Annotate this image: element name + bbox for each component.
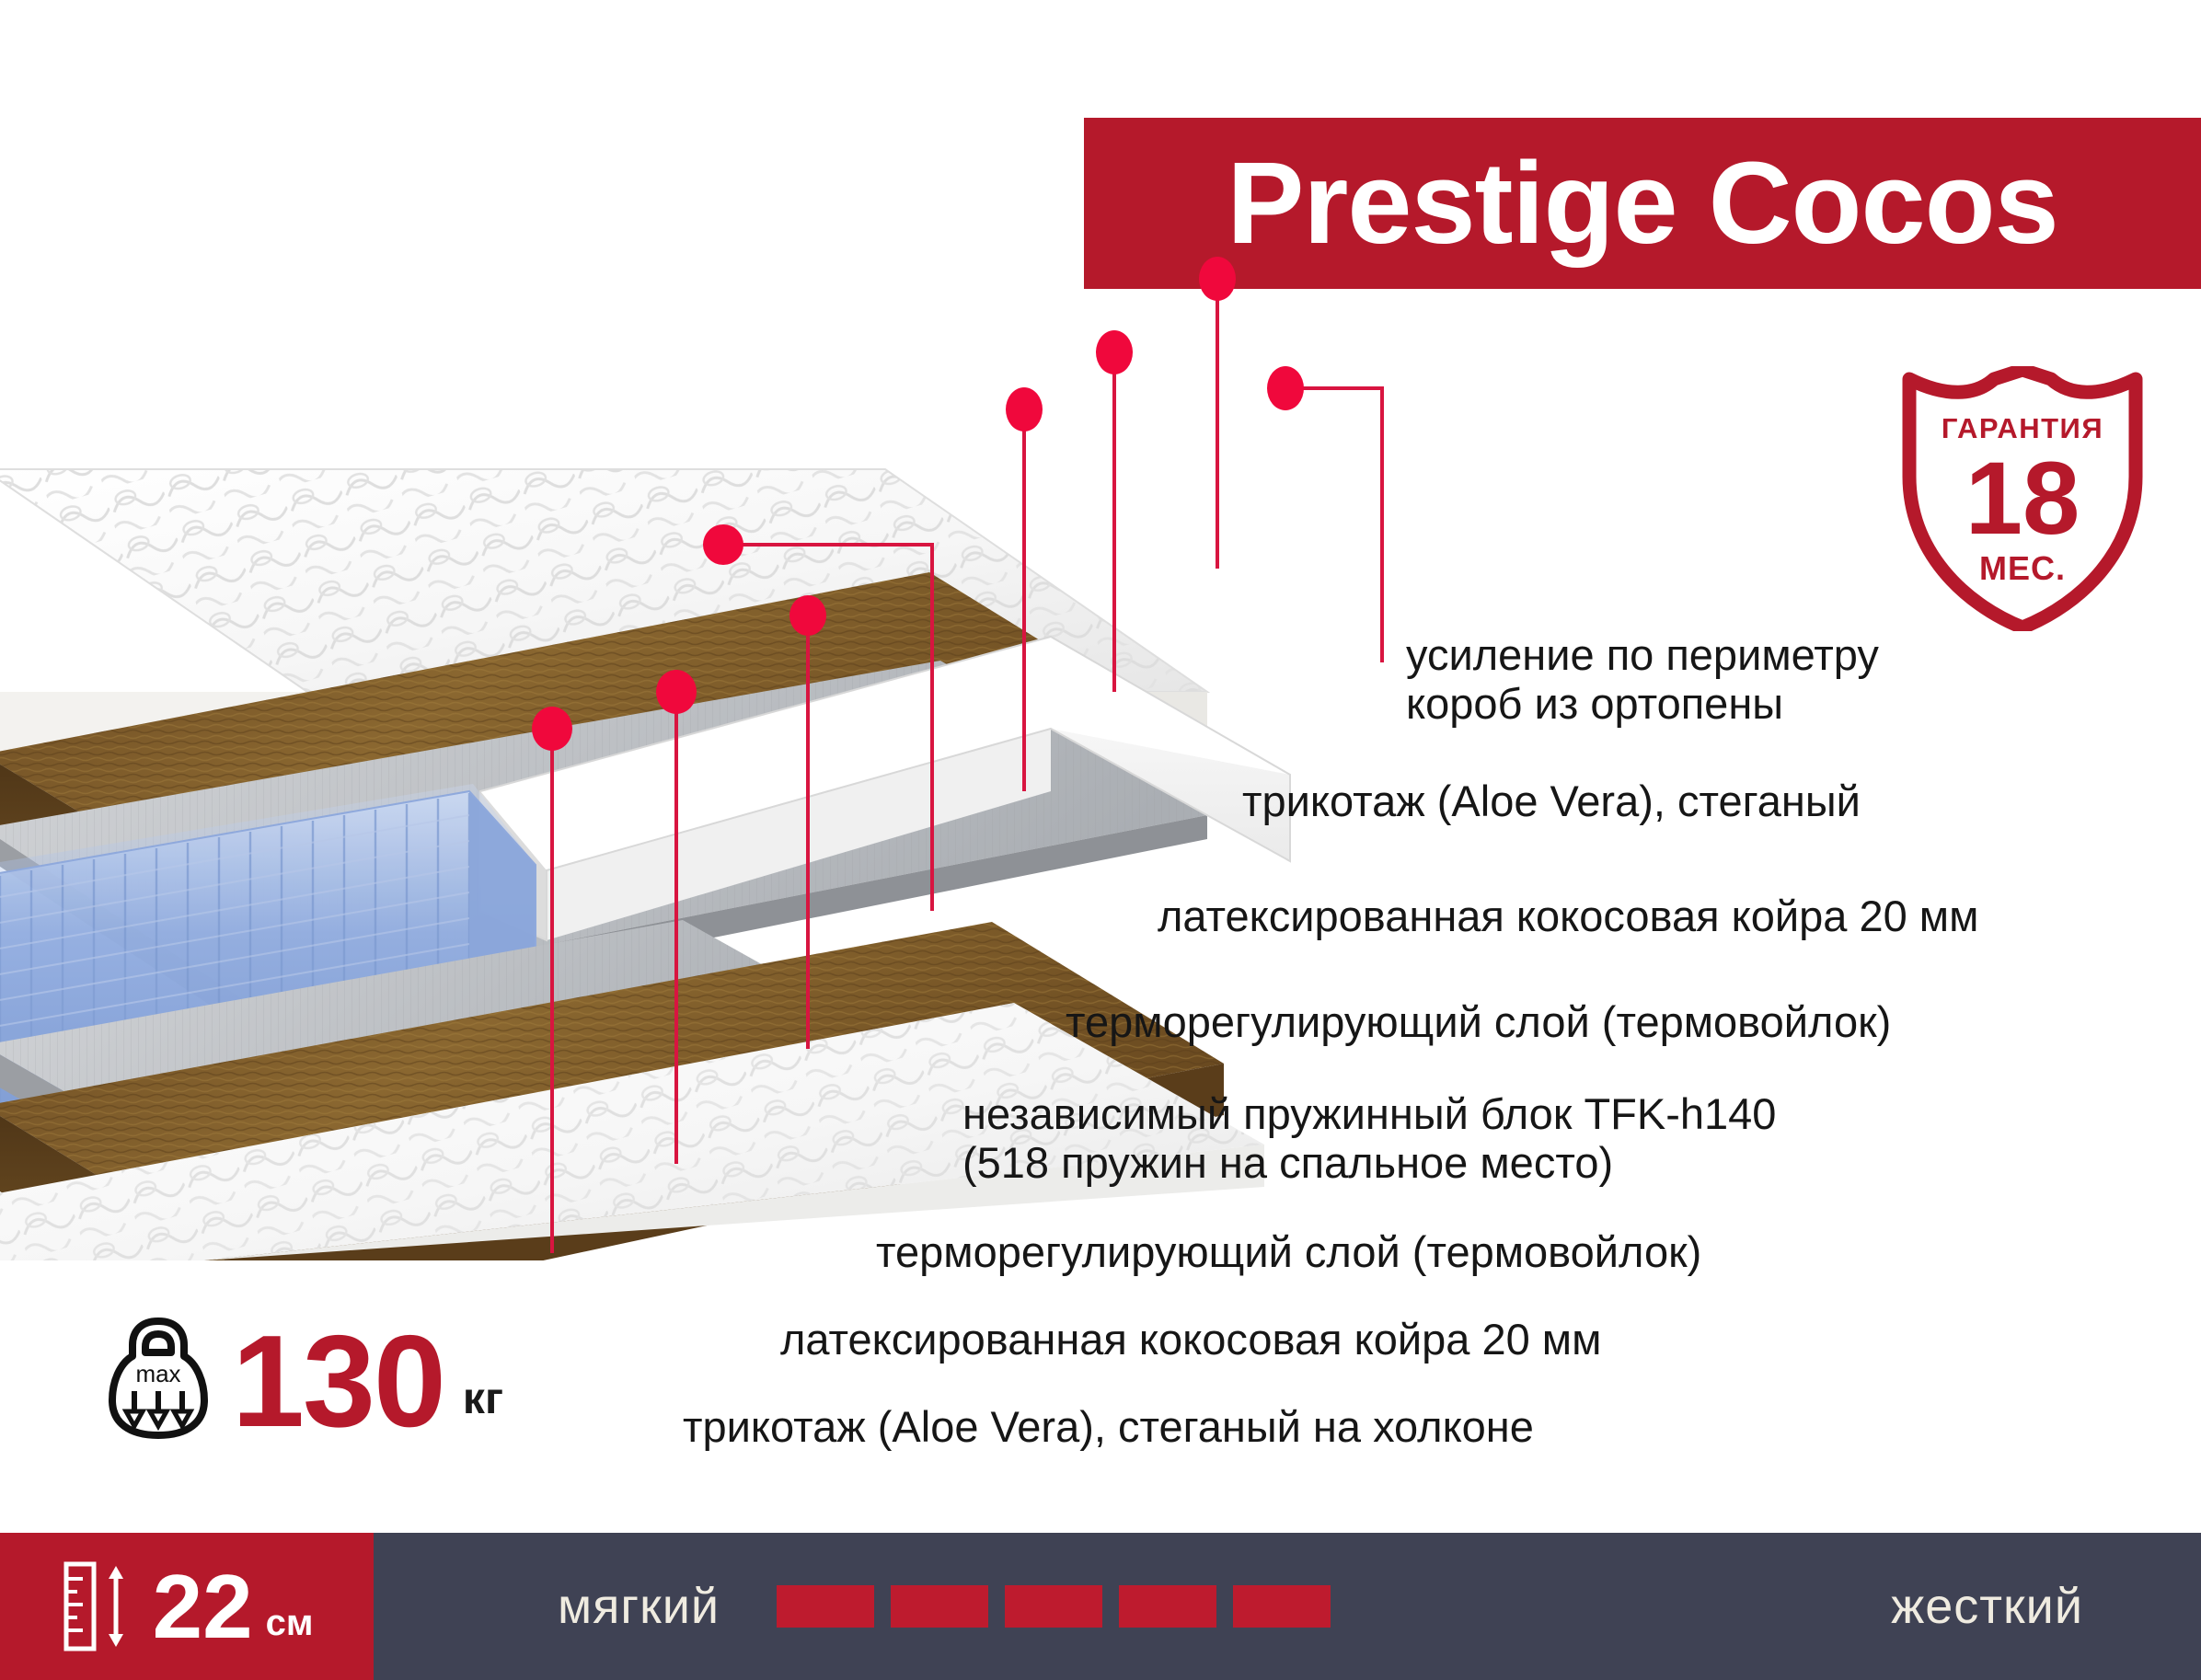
callout-line: терморегулирующий слой (термовойлок) — [876, 1228, 1701, 1277]
callout-label-bottom-thermo-felt: терморегулирующий слой (термовойлок) — [876, 1228, 1701, 1277]
firmness-soft-label: мягкий — [558, 1578, 720, 1635]
callout-line: (518 пружин на спальное место) — [962, 1139, 1776, 1188]
firmness-segments — [777, 1585, 1331, 1628]
firmness-segment — [1119, 1585, 1216, 1628]
height-value: 22 — [153, 1566, 253, 1647]
product-title-banner: Prestige Cocos — [1084, 118, 2201, 289]
callout-line: терморегулирующий слой (термовойлок) — [1066, 998, 1891, 1047]
callout-label-spring-block: независимый пружинный блок TFK-h140 (518… — [962, 1090, 1776, 1187]
max-weight-unit: кг — [463, 1374, 503, 1424]
callout-line: короб из ортопены — [1406, 680, 1879, 729]
callout-line: трикотаж (Aloe Vera), стеганый — [1242, 777, 1861, 826]
callout-line: трикотаж (Aloe Vera), стеганый на холкон… — [683, 1403, 1534, 1452]
callout-line: усиление по периметру — [1406, 631, 1879, 680]
max-weight-icon-label: max — [135, 1360, 180, 1387]
ruler-icon — [61, 1559, 140, 1654]
bottom-spec-bar: 22 см мягкий жесткий — [0, 1533, 2201, 1680]
firmness-segment — [1233, 1585, 1331, 1628]
firmness-scale: мягкий жесткий — [374, 1533, 2201, 1680]
warranty-shield-badge: ГАРАНТИЯ 18 МЕС. — [1898, 366, 2147, 631]
kettlebell-icon: max — [109, 1316, 208, 1441]
warranty-value: 18 — [1965, 441, 2080, 556]
callout-label-perimeter-reinforcement: усиление по периметру короб из ортопены — [1406, 631, 1879, 728]
callout-label-top-coir-layer: латексированная кокосовая койра 20 мм — [1158, 892, 1978, 941]
max-weight-value: 130 — [232, 1323, 444, 1441]
infographic-canvas: Prestige Cocos ГАРАНТИЯ 18 МЕС. — [0, 0, 2201, 1680]
firmness-segment — [1005, 1585, 1102, 1628]
callout-line: латексированная кокосовая койра 20 мм — [780, 1316, 1601, 1364]
callout-line: независимый пружинный блок TFK-h140 — [962, 1090, 1776, 1139]
height-unit: см — [266, 1603, 314, 1644]
callout-label-bottom-knit-cover: трикотаж (Aloe Vera), стеганый на холкон… — [683, 1403, 1534, 1452]
callout-label-top-knit-cover: трикотаж (Aloe Vera), стеганый — [1242, 777, 1861, 826]
warranty-top-label: ГАРАНТИЯ — [1942, 412, 2103, 444]
callout-label-top-thermo-felt: терморегулирующий слой (термовойлок) — [1066, 998, 1891, 1047]
warranty-unit: МЕС. — [1979, 549, 2066, 587]
callout-line: латексированная кокосовая койра 20 мм — [1158, 892, 1978, 941]
firmness-segment — [891, 1585, 988, 1628]
firmness-hard-label: жесткий — [1891, 1578, 2083, 1635]
firmness-segment — [777, 1585, 874, 1628]
product-title: Prestige Cocos — [1227, 145, 2057, 261]
max-weight-badge: max 130 кг — [109, 1316, 503, 1441]
callout-label-bottom-coir-layer: латексированная кокосовая койра 20 мм — [780, 1316, 1601, 1364]
shield-icon: ГАРАНТИЯ 18 МЕС. — [1898, 366, 2147, 631]
height-chip: 22 см — [0, 1533, 374, 1680]
